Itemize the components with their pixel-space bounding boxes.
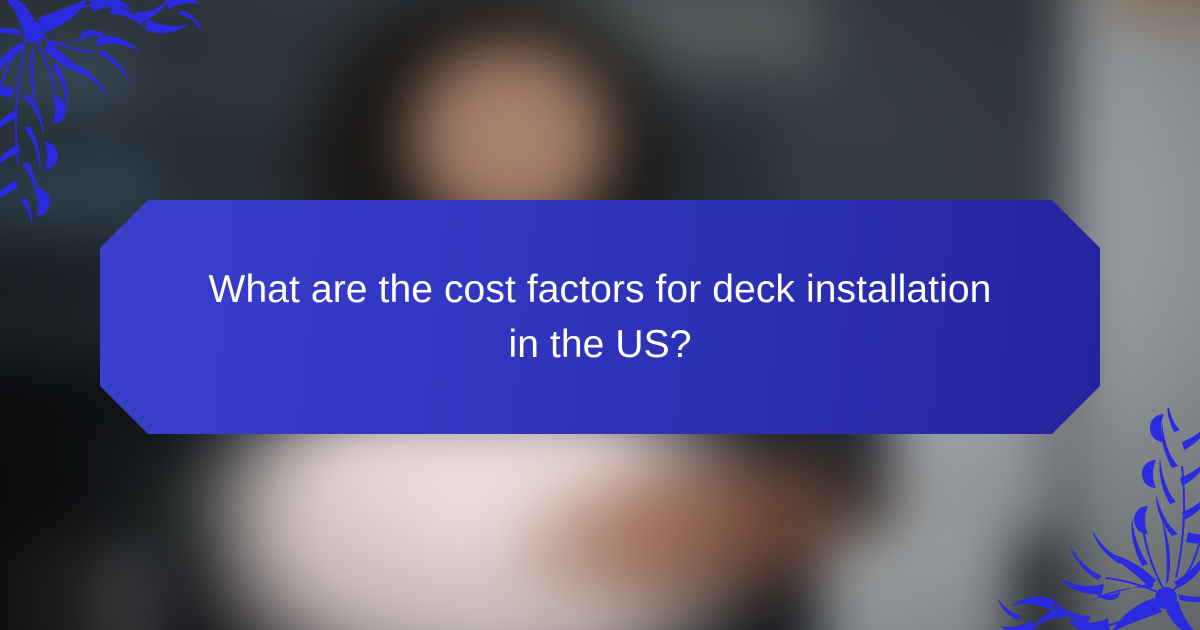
question-text: What are the cost factors for deck insta… [200,262,1000,373]
question-banner: What are the cost factors for deck insta… [100,200,1100,434]
image-canvas: What are the cost factors for deck insta… [0,0,1200,630]
